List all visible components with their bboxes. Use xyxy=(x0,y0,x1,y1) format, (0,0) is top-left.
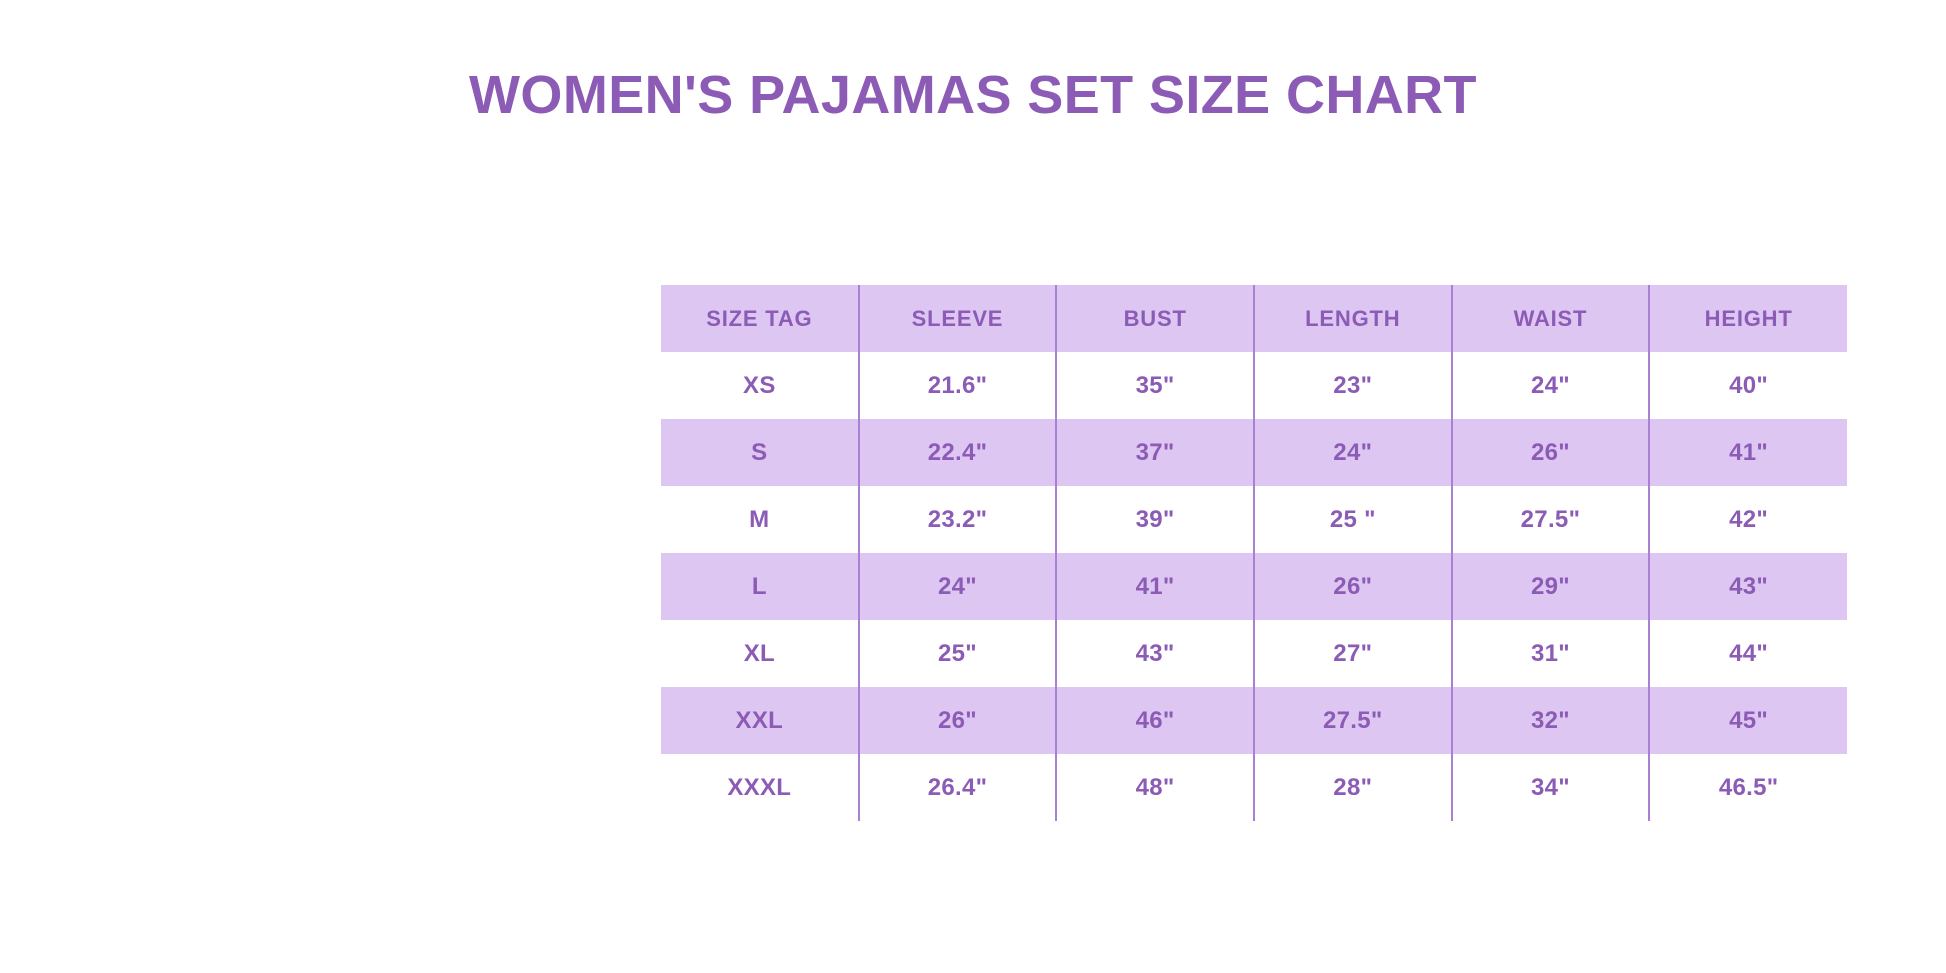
table-row: XL25"43"27"31"44" xyxy=(661,620,1847,687)
table-row: S22.4"37"24"26"41" xyxy=(661,419,1847,486)
measurement-cell-bust: 35" xyxy=(1056,352,1254,419)
measurement-cell-length: 24" xyxy=(1254,419,1452,486)
measurement-cell-bust: 43" xyxy=(1056,620,1254,687)
column-header-bust: BUST xyxy=(1056,285,1254,352)
measurement-cell-waist: 26" xyxy=(1452,419,1650,486)
size-tag-cell: XXXL xyxy=(661,754,859,821)
measurement-cell-bust: 37" xyxy=(1056,419,1254,486)
measurement-cell-length: 27.5" xyxy=(1254,687,1452,754)
measurement-cell-waist: 29" xyxy=(1452,553,1650,620)
measurement-cell-length: 28" xyxy=(1254,754,1452,821)
table-body: XS21.6"35"23"24"40"S22.4"37"24"26"41"M23… xyxy=(661,352,1847,821)
size-tag-cell: S xyxy=(661,419,859,486)
measurement-cell-height: 40" xyxy=(1649,352,1847,419)
measurement-cell-sleeve: 26" xyxy=(859,687,1057,754)
table-row: XS21.6"35"23"24"40" xyxy=(661,352,1847,419)
measurement-cell-waist: 24" xyxy=(1452,352,1650,419)
size-chart-table-container: SIZE TAGSLEEVEBUSTLENGTHWAISTHEIGHT XS21… xyxy=(661,285,1847,821)
measurement-cell-sleeve: 26.4" xyxy=(859,754,1057,821)
measurement-cell-sleeve: 24" xyxy=(859,553,1057,620)
measurement-cell-bust: 41" xyxy=(1056,553,1254,620)
column-header-size-tag: SIZE TAG xyxy=(661,285,859,352)
measurement-cell-length: 26" xyxy=(1254,553,1452,620)
measurement-cell-waist: 34" xyxy=(1452,754,1650,821)
table-header: SIZE TAGSLEEVEBUSTLENGTHWAISTHEIGHT xyxy=(661,285,1847,352)
table-row: M23.2"39"25 "27.5"42" xyxy=(661,486,1847,553)
page-title: WOMEN'S PAJAMAS SET SIZE CHART xyxy=(0,64,1946,126)
table-row: L24"41"26"29"43" xyxy=(661,553,1847,620)
table-row: XXXL26.4"48"28"34"46.5" xyxy=(661,754,1847,821)
column-header-height: HEIGHT xyxy=(1649,285,1847,352)
column-header-sleeve: SLEEVE xyxy=(859,285,1057,352)
measurement-cell-waist: 32" xyxy=(1452,687,1650,754)
measurement-cell-height: 45" xyxy=(1649,687,1847,754)
column-header-length: LENGTH xyxy=(1254,285,1452,352)
size-tag-cell: M xyxy=(661,486,859,553)
measurement-cell-sleeve: 22.4" xyxy=(859,419,1057,486)
measurement-cell-waist: 27.5" xyxy=(1452,486,1650,553)
size-tag-cell: L xyxy=(661,553,859,620)
measurement-cell-length: 25 " xyxy=(1254,486,1452,553)
measurement-cell-sleeve: 23.2" xyxy=(859,486,1057,553)
measurement-cell-height: 42" xyxy=(1649,486,1847,553)
measurement-cell-height: 41" xyxy=(1649,419,1847,486)
size-chart-table: SIZE TAGSLEEVEBUSTLENGTHWAISTHEIGHT XS21… xyxy=(661,285,1847,821)
measurement-cell-length: 23" xyxy=(1254,352,1452,419)
size-tag-cell: XL xyxy=(661,620,859,687)
table-header-row: SIZE TAGSLEEVEBUSTLENGTHWAISTHEIGHT xyxy=(661,285,1847,352)
measurement-cell-sleeve: 25" xyxy=(859,620,1057,687)
measurement-cell-sleeve: 21.6" xyxy=(859,352,1057,419)
measurement-cell-length: 27" xyxy=(1254,620,1452,687)
measurement-cell-height: 46.5" xyxy=(1649,754,1847,821)
measurement-cell-height: 43" xyxy=(1649,553,1847,620)
measurement-cell-bust: 46" xyxy=(1056,687,1254,754)
size-tag-cell: XXL xyxy=(661,687,859,754)
measurement-cell-height: 44" xyxy=(1649,620,1847,687)
measurement-cell-bust: 48" xyxy=(1056,754,1254,821)
measurement-cell-bust: 39" xyxy=(1056,486,1254,553)
table-row: XXL26"46"27.5"32"45" xyxy=(661,687,1847,754)
size-chart-page: WOMEN'S PAJAMAS SET SIZE CHART SIZE TAGS… xyxy=(0,0,1946,973)
measurement-cell-waist: 31" xyxy=(1452,620,1650,687)
column-header-waist: WAIST xyxy=(1452,285,1650,352)
size-tag-cell: XS xyxy=(661,352,859,419)
